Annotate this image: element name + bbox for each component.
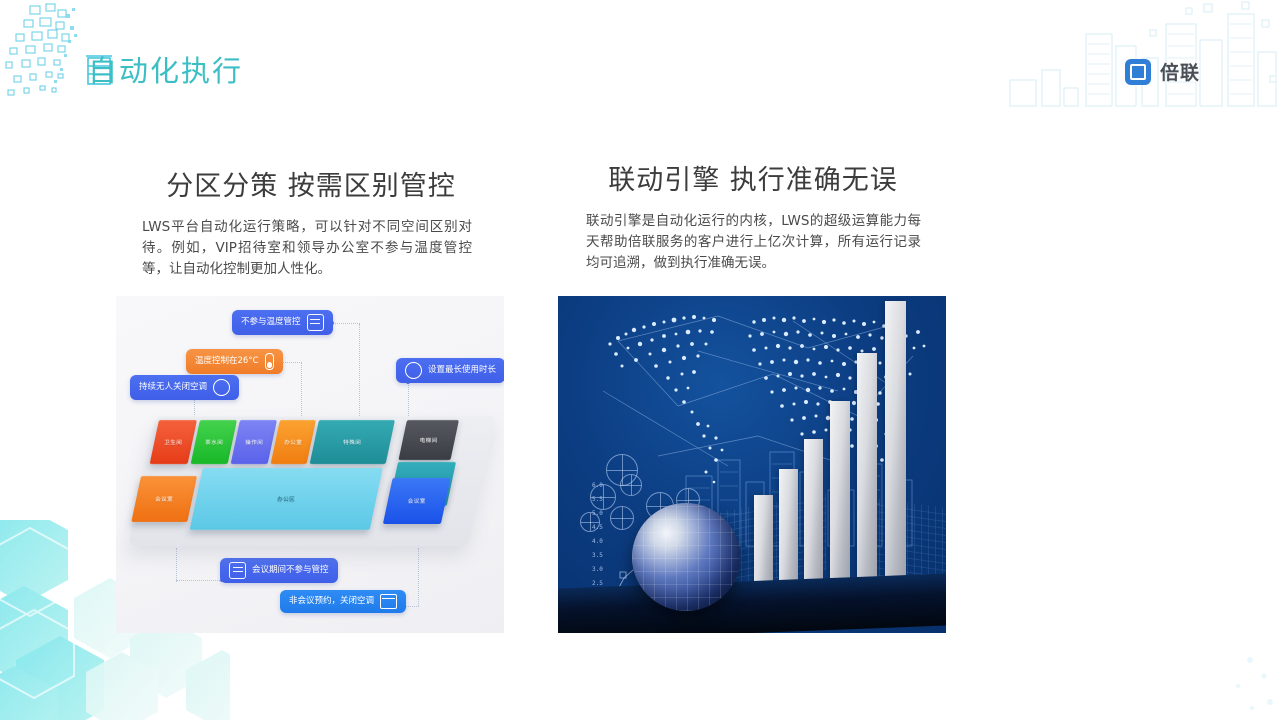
room-open-office-area: 办公区 [190, 468, 383, 530]
brand-mark-icon [1125, 59, 1151, 85]
chip-label: 温度控制在26°C [195, 357, 259, 366]
panel-icon [307, 314, 324, 331]
connector-line [176, 580, 224, 581]
chip-no-temperature-control: 不参与温度管控 [232, 310, 333, 335]
brand-logo: 倍联 [1125, 58, 1200, 85]
floorplan-diagram-image: 不参与温度管控 温度控制在26°C 持续无人关闭空调 设置最长使用时长 会议期间… [116, 296, 504, 633]
globe-icon [632, 503, 740, 611]
timer-icon [405, 362, 422, 379]
left-heading: 分区分策 按需区别管控 [116, 164, 506, 203]
chip-label: 不参与温度管控 [241, 318, 301, 327]
room-meeting-left: 会议室 [131, 476, 197, 522]
room-elevator: 电梯间 [398, 420, 458, 460]
chip-temperature-26: 温度控制在26°C [186, 349, 283, 374]
chip-no-booking-shutdown: 非会议预约，关闭空调 [280, 590, 406, 613]
thermometer-icon [265, 353, 274, 370]
bar-2 [779, 469, 798, 591]
chip-label: 设置最长使用时长 [428, 366, 496, 375]
bar-1 [754, 495, 773, 591]
bar-4 [830, 401, 850, 591]
right-body-text: 联动引擎是自动化运行的内核，LWS的超级运算能力每天帮助倍联服务的客户进行上亿次… [586, 211, 921, 274]
presentation-icon [229, 562, 246, 579]
data-network-image: 6.0 5.5 5.0 4.5 4.0 3.5 3.0 2.5 2.0 1.5 [558, 296, 946, 633]
brand-name: 倍联 [1160, 58, 1200, 85]
connector-line [359, 324, 360, 424]
chip-label: 会议期间不参与管控 [252, 566, 329, 575]
slide-root: 自动化执行 倍联 分区分策 按需区别管控 LWS平台自动化运行策略，可以针对不同… [0, 0, 1280, 720]
column-left: 分区分策 按需区别管控 LWS平台自动化运行策略，可以针对不同空间区别对待。例如… [116, 150, 506, 280]
chip-max-usage-duration: 设置最长使用时长 [396, 358, 504, 383]
chip-meeting-exempt: 会议期间不参与管控 [220, 558, 338, 583]
bar-5 [857, 353, 877, 591]
room-restroom: 卫生间 [150, 420, 197, 464]
calendar-icon [380, 594, 397, 609]
floor-slab: 卫生间 茶水间 操作间 办公室 特殊间 电梯间 银行 [128, 416, 496, 546]
sensor-icon [213, 379, 230, 396]
room-pantry: 茶水间 [191, 420, 237, 464]
dots-decoration-icon [1160, 640, 1280, 720]
room-meeting-right: 会议室 [383, 478, 451, 524]
brand-mark-inner-square-icon [1130, 64, 1146, 80]
left-body-text: LWS平台自动化运行策略，可以针对不同空间区别对待。例如，VIP招待室和领导办公… [142, 217, 472, 280]
bar-6 [885, 301, 906, 591]
bar-3 [804, 439, 823, 591]
connector-line [176, 548, 177, 582]
chip-label: 非会议预约，关闭空调 [289, 597, 374, 606]
chip-label: 持续无人关闭空调 [139, 383, 207, 392]
room-operations: 操作间 [231, 420, 277, 464]
column-right: 联动引擎 执行准确无误 联动引擎是自动化运行的内核，LWS的超级运算能力每天帮助… [558, 150, 948, 274]
page-title: 自动化执行 [88, 48, 243, 90]
connector-line [418, 548, 419, 606]
right-heading: 联动引擎 执行准确无误 [558, 158, 948, 197]
chip-unattended-shutdown: 持续无人关闭空调 [130, 375, 239, 400]
room-office: 办公室 [271, 420, 316, 464]
room-special: 特殊间 [310, 420, 395, 464]
